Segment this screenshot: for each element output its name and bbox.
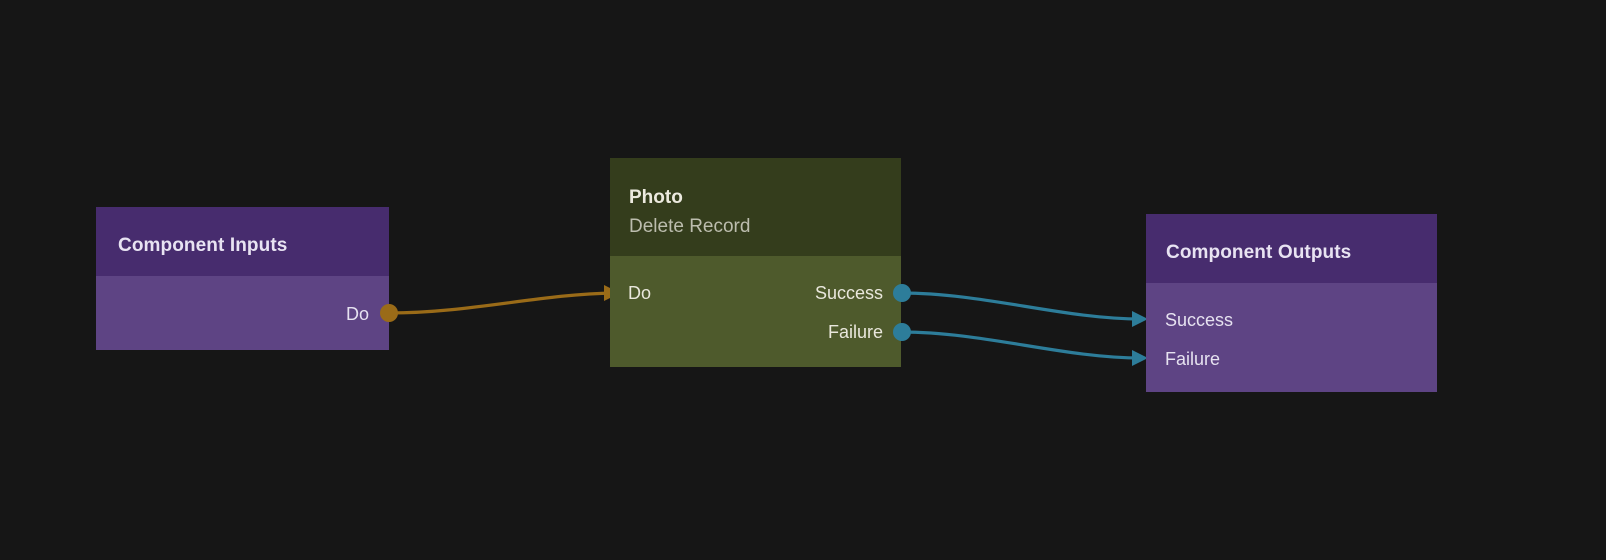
output-pin-failure[interactable] (893, 323, 911, 341)
node-photo-delete-record[interactable]: Photo Delete Record Do Success Failure (610, 158, 901, 367)
connection-wire (901, 293, 1142, 319)
node-body: Do (96, 276, 389, 350)
node-title: Component Outputs (1166, 243, 1351, 262)
connection-wire (389, 293, 614, 313)
node-title: Component Inputs (118, 236, 287, 255)
output-port-label-do[interactable]: Do (346, 305, 369, 323)
output-port-label-success[interactable]: Success (815, 284, 883, 302)
node-header[interactable]: Component Inputs (96, 207, 389, 276)
node-title: Photo (629, 188, 683, 207)
output-pin-success[interactable] (893, 284, 911, 302)
node-graph-canvas[interactable]: Component Inputs Do Photo Delete Record … (0, 0, 1606, 560)
input-port-label-success[interactable]: Success (1165, 311, 1233, 329)
output-port-label-failure[interactable]: Failure (828, 323, 883, 341)
connection-inputs-do-to-photo-do[interactable] (389, 285, 620, 313)
node-body: Do Success Failure (610, 256, 901, 367)
output-pin-do[interactable] (380, 304, 398, 322)
input-port-label-do[interactable]: Do (628, 284, 651, 302)
connection-photo-failure-to-outputs-failure[interactable] (901, 332, 1148, 366)
node-body: Success Failure (1146, 283, 1437, 392)
connection-photo-success-to-outputs-success[interactable] (901, 293, 1148, 327)
node-component-inputs[interactable]: Component Inputs Do (96, 207, 389, 350)
input-port-label-failure[interactable]: Failure (1165, 350, 1220, 368)
node-component-outputs[interactable]: Component Outputs Success Failure (1146, 214, 1437, 392)
connection-wire (901, 332, 1142, 358)
node-header[interactable]: Photo Delete Record (610, 158, 901, 256)
node-header[interactable]: Component Outputs (1146, 214, 1437, 283)
node-subtitle: Delete Record (629, 217, 750, 236)
